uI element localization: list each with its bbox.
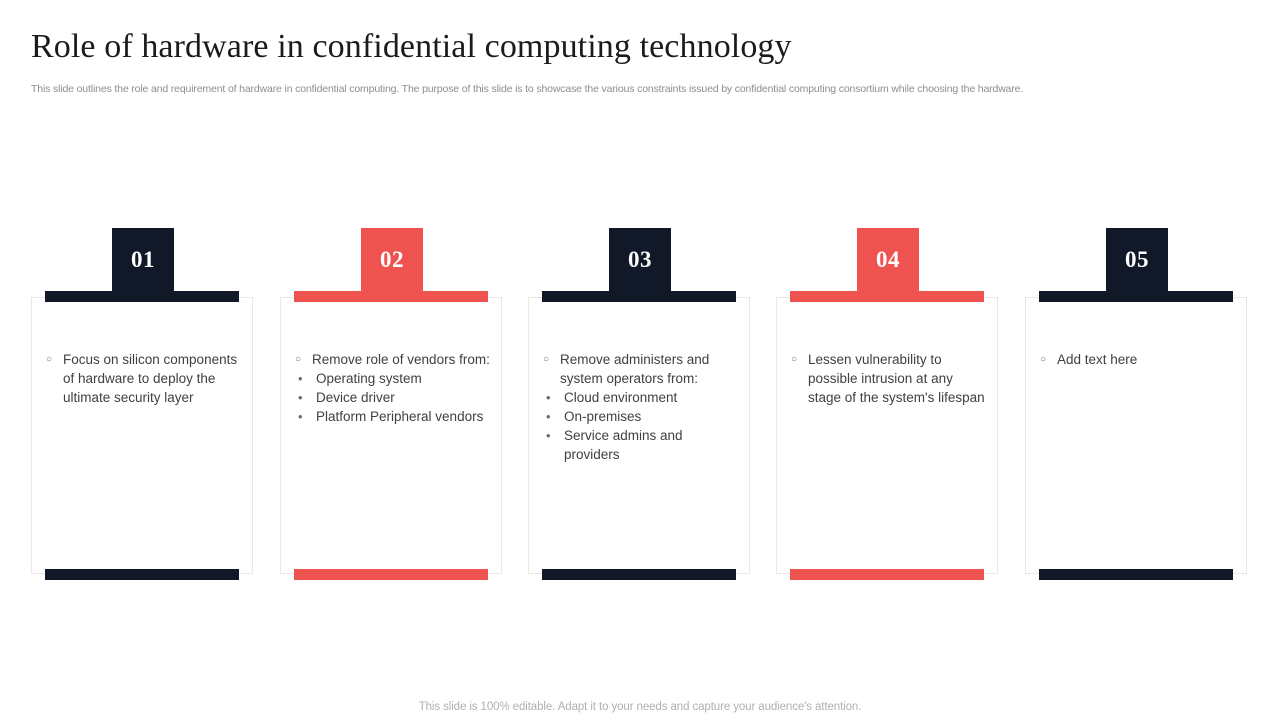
card-number-badge: 01: [112, 228, 174, 291]
card-body: ○ Remove role of vendors from: • Operati…: [280, 297, 502, 574]
card-top-bar: [790, 291, 984, 302]
card-sub-item: • Platform Peripheral vendors: [294, 407, 493, 426]
bullet-dot-icon: •: [546, 426, 551, 445]
card-top-bar: [1039, 291, 1233, 302]
bullet-dot-icon: •: [298, 407, 303, 426]
card-02[interactable]: 02 ○ Remove role of vendors from: • Oper…: [280, 228, 504, 583]
card-bottom-bar: [542, 569, 736, 580]
card-main-bullet: ○ Remove role of vendors from:: [294, 350, 493, 369]
card-main-bullet: ○ Lessen vulnerability to possible intru…: [790, 350, 989, 407]
card-bottom-bar: [1039, 569, 1233, 580]
bullet-circle-icon: ○: [543, 350, 549, 369]
page-title: Role of hardware in confidential computi…: [31, 28, 792, 66]
card-top-bar: [542, 291, 736, 302]
card-sub-text: Cloud environment: [564, 390, 677, 405]
bullet-circle-icon: ○: [295, 350, 301, 369]
card-content: ○ Remove role of vendors from: • Operati…: [294, 350, 493, 426]
card-sub-list: • Cloud environment • On-premises • Serv…: [542, 388, 741, 464]
card-number-badge: 03: [609, 228, 671, 291]
card-05[interactable]: 05 ○ Add text here: [1025, 228, 1249, 583]
card-body: ○ Lessen vulnerability to possible intru…: [776, 297, 998, 574]
card-number-badge: 04: [857, 228, 919, 291]
card-content: ○ Add text here: [1039, 350, 1238, 369]
bullet-dot-icon: •: [298, 369, 303, 388]
bullet-dot-icon: •: [546, 407, 551, 426]
card-sub-item: • Operating system: [294, 369, 493, 388]
card-main-bullet: ○ Remove administers and system operator…: [542, 350, 741, 388]
card-number-badge: 05: [1106, 228, 1168, 291]
card-top-bar: [45, 291, 239, 302]
card-main-text: Focus on silicon components of hardware …: [63, 352, 237, 405]
card-number-badge: 02: [361, 228, 423, 291]
card-main-bullet: ○ Focus on silicon components of hardwar…: [45, 350, 244, 407]
card-bottom-bar: [790, 569, 984, 580]
card-04[interactable]: 04 ○ Lessen vulnerability to possible in…: [776, 228, 1000, 583]
card-sub-list: • Operating system • Device driver • Pla…: [294, 369, 493, 426]
card-body: ○ Focus on silicon components of hardwar…: [31, 297, 253, 574]
bullet-circle-icon: ○: [46, 350, 52, 369]
slide-footer: This slide is 100% editable. Adapt it to…: [0, 701, 1280, 713]
card-content: ○ Remove administers and system operator…: [542, 350, 741, 464]
card-top-bar: [294, 291, 488, 302]
card-sub-text: Device driver: [316, 390, 395, 405]
card-sub-item: • On-premises: [542, 407, 741, 426]
cards-row: 01 ○ Focus on silicon components of hard…: [31, 228, 1249, 583]
card-main-text: Add text here: [1057, 352, 1137, 367]
card-sub-text: Service admins and providers: [564, 428, 683, 462]
card-content: ○ Focus on silicon components of hardwar…: [45, 350, 244, 407]
card-sub-item: • Device driver: [294, 388, 493, 407]
card-sub-text: Platform Peripheral vendors: [316, 409, 483, 424]
bullet-circle-icon: ○: [1040, 350, 1046, 369]
card-01[interactable]: 01 ○ Focus on silicon components of hard…: [31, 228, 255, 583]
card-03[interactable]: 03 ○ Remove administers and system opera…: [528, 228, 752, 583]
card-body: ○ Add text here: [1025, 297, 1247, 574]
card-sub-item: • Service admins and providers: [542, 426, 741, 464]
card-bottom-bar: [45, 569, 239, 580]
bullet-dot-icon: •: [298, 388, 303, 407]
card-sub-text: On-premises: [564, 409, 641, 424]
page-subtitle: This slide outlines the role and require…: [31, 83, 1246, 95]
card-bottom-bar: [294, 569, 488, 580]
card-sub-item: • Cloud environment: [542, 388, 741, 407]
card-content: ○ Lessen vulnerability to possible intru…: [790, 350, 989, 407]
bullet-dot-icon: •: [546, 388, 551, 407]
card-main-text: Remove administers and system operators …: [560, 352, 709, 386]
card-main-bullet: ○ Add text here: [1039, 350, 1238, 369]
bullet-circle-icon: ○: [791, 350, 797, 369]
card-sub-text: Operating system: [316, 371, 422, 386]
card-main-text: Remove role of vendors from:: [312, 352, 490, 367]
card-main-text: Lessen vulnerability to possible intrusi…: [808, 352, 985, 405]
card-body: ○ Remove administers and system operator…: [528, 297, 750, 574]
